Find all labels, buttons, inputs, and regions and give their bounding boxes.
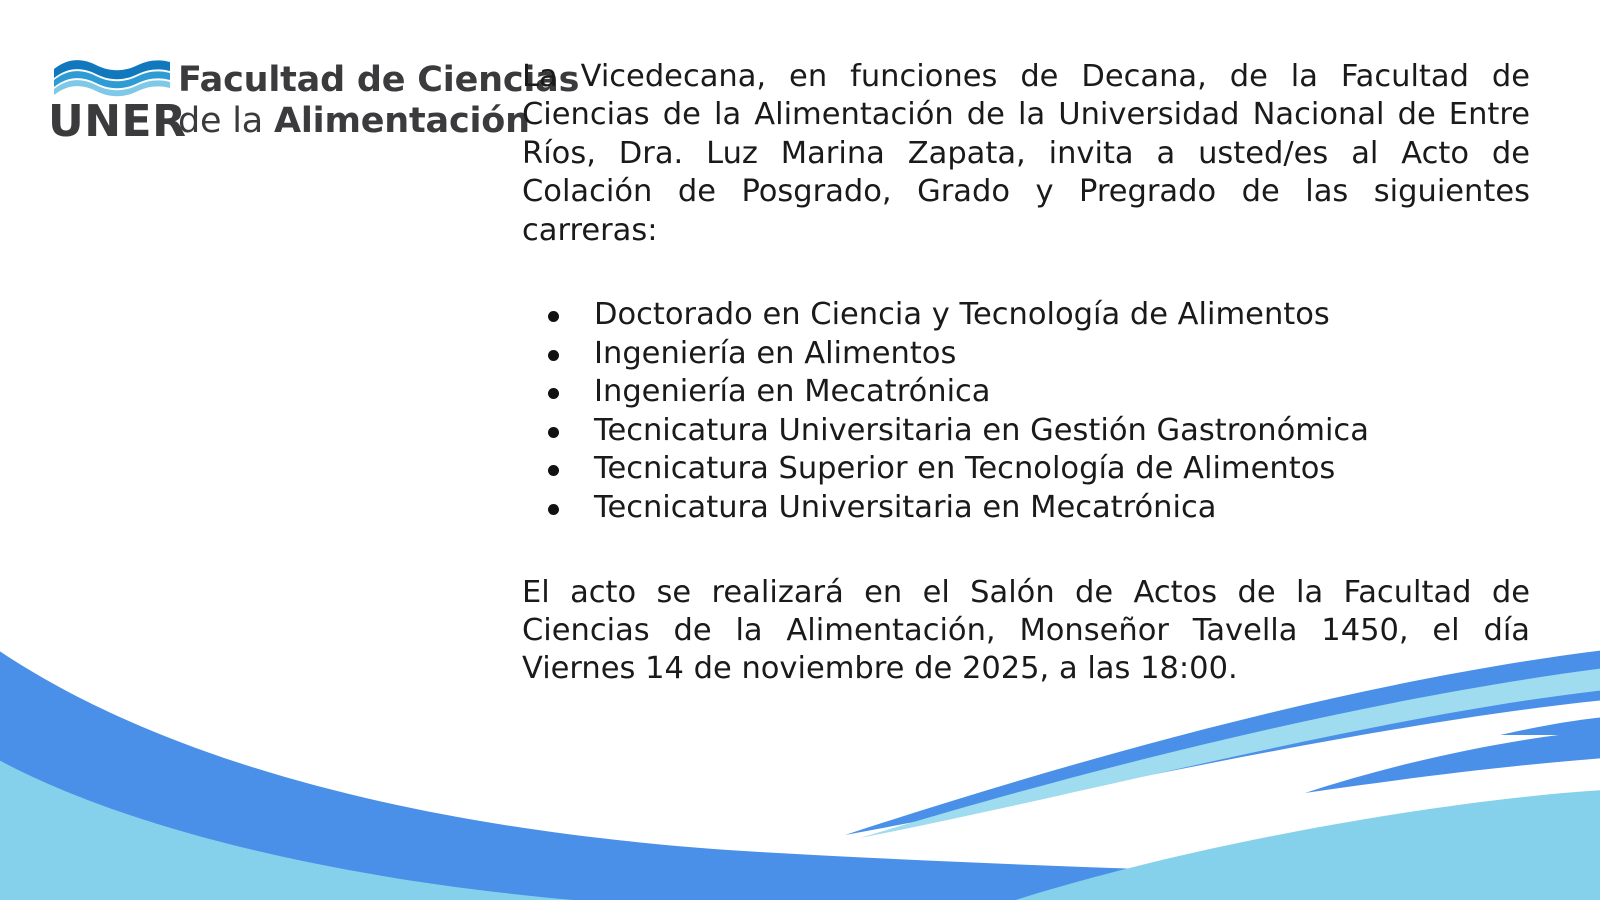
list-item: Ingeniería en Alimentos — [548, 335, 1530, 374]
list-item: Ingeniería en Mecatrónica — [548, 373, 1530, 412]
wave-ribbon-blue-lower — [1305, 730, 1600, 793]
wave-band-cyan-left — [0, 758, 640, 900]
list-item: Tecnicatura Universitaria en Gestión Gas… — [548, 412, 1530, 451]
faculty-name-line-2: de la Alimentación — [178, 101, 579, 142]
invitation-page: UNER Facultad de Ciencias de la Alimenta… — [0, 0, 1600, 900]
faculty-name-line-2-prefix: de la — [178, 101, 274, 141]
faculty-name-line-1: Facultad de Ciencias — [178, 60, 579, 101]
wave-ribbon-blue-edge — [1500, 717, 1600, 735]
faculty-name: Facultad de Ciencias de la Alimentación — [178, 60, 579, 143]
closing-paragraph: El acto se realizará en el Salón de Acto… — [522, 574, 1530, 689]
uner-logo: UNER Facultad de Ciencias de la Alimenta… — [48, 52, 508, 152]
list-item: Tecnicatura Superior en Tecnología de Al… — [548, 450, 1530, 489]
intro-paragraph: La Vicedecana, en funciones de Decana, d… — [522, 58, 1530, 250]
wave-ribbon-cyan-highlight — [860, 668, 1600, 838]
careers-list: Doctorado en Ciencia y Tecnología de Ali… — [522, 296, 1530, 527]
uner-abbreviation: UNER — [48, 100, 187, 144]
faculty-name-line-2-strong: Alimentación — [274, 101, 530, 141]
wave-band-cyan-right — [1000, 790, 1600, 900]
list-item: Doctorado en Ciencia y Tecnología de Ali… — [548, 296, 1530, 335]
uner-waves-mark-icon — [52, 58, 172, 100]
list-item: Tecnicatura Universitaria en Mecatrónica — [548, 489, 1530, 528]
invitation-content: La Vicedecana, en funciones de Decana, d… — [522, 58, 1530, 689]
